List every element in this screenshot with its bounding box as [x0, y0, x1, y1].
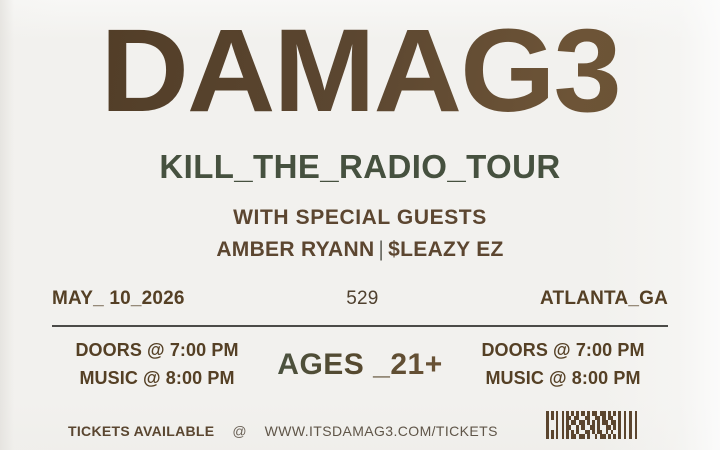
event-city: ATLANTA_GA	[540, 288, 668, 310]
venue-name: 529	[346, 288, 378, 310]
divider-rule	[52, 325, 668, 327]
event-info-row: MAY_ 10_2026 529 ATLANTA_GA	[52, 288, 668, 310]
glitch-barcode-icon	[546, 411, 678, 439]
special-guests-heading: WITH SPECIAL GUESTS	[0, 206, 720, 230]
times-column-left: DOORS @ 7:00 PM MUSIC @ 8:00 PM	[52, 340, 262, 389]
tickets-available-label: TICKETS AVAILABLE	[68, 423, 214, 439]
special-guests-names: AMBER RYANN|$LEAZY EZ	[0, 238, 720, 262]
barcode-segment	[635, 434, 637, 439]
event-date: MAY_ 10_2026	[52, 288, 185, 310]
music-time-right: MUSIC @ 8:00 PM	[458, 368, 668, 389]
times-column-right: DOORS @ 7:00 PM MUSIC @ 8:00 PM	[458, 340, 668, 389]
doors-time-left: DOORS @ 7:00 PM	[52, 340, 262, 361]
age-restriction: AGES _21+	[277, 348, 442, 382]
guest-two: $LEAZY EZ	[388, 238, 504, 261]
tickets-footer: TICKETS AVAILABLE @ WWW.ITSDAMAG3.COM/TI…	[68, 423, 498, 439]
tickets-url[interactable]: WWW.ITSDAMAG3.COM/TICKETS	[265, 423, 498, 439]
barcode-column	[635, 411, 637, 439]
guest-separator: |	[374, 238, 388, 261]
tour-name: KILL_THE_RADIO_TOUR	[0, 148, 720, 186]
music-time-left: MUSIC @ 8:00 PM	[52, 368, 262, 389]
guest-one: AMBER RYANN	[216, 238, 374, 261]
times-row: DOORS @ 7:00 PM MUSIC @ 8:00 PM AGES _21…	[52, 340, 668, 389]
doors-time-right: DOORS @ 7:00 PM	[458, 340, 668, 361]
at-symbol: @	[232, 423, 246, 439]
artist-name: DAMAG3	[0, 12, 720, 130]
concert-poster: DAMAG3 KILL_THE_RADIO_TOUR WITH SPECIAL …	[0, 0, 720, 450]
